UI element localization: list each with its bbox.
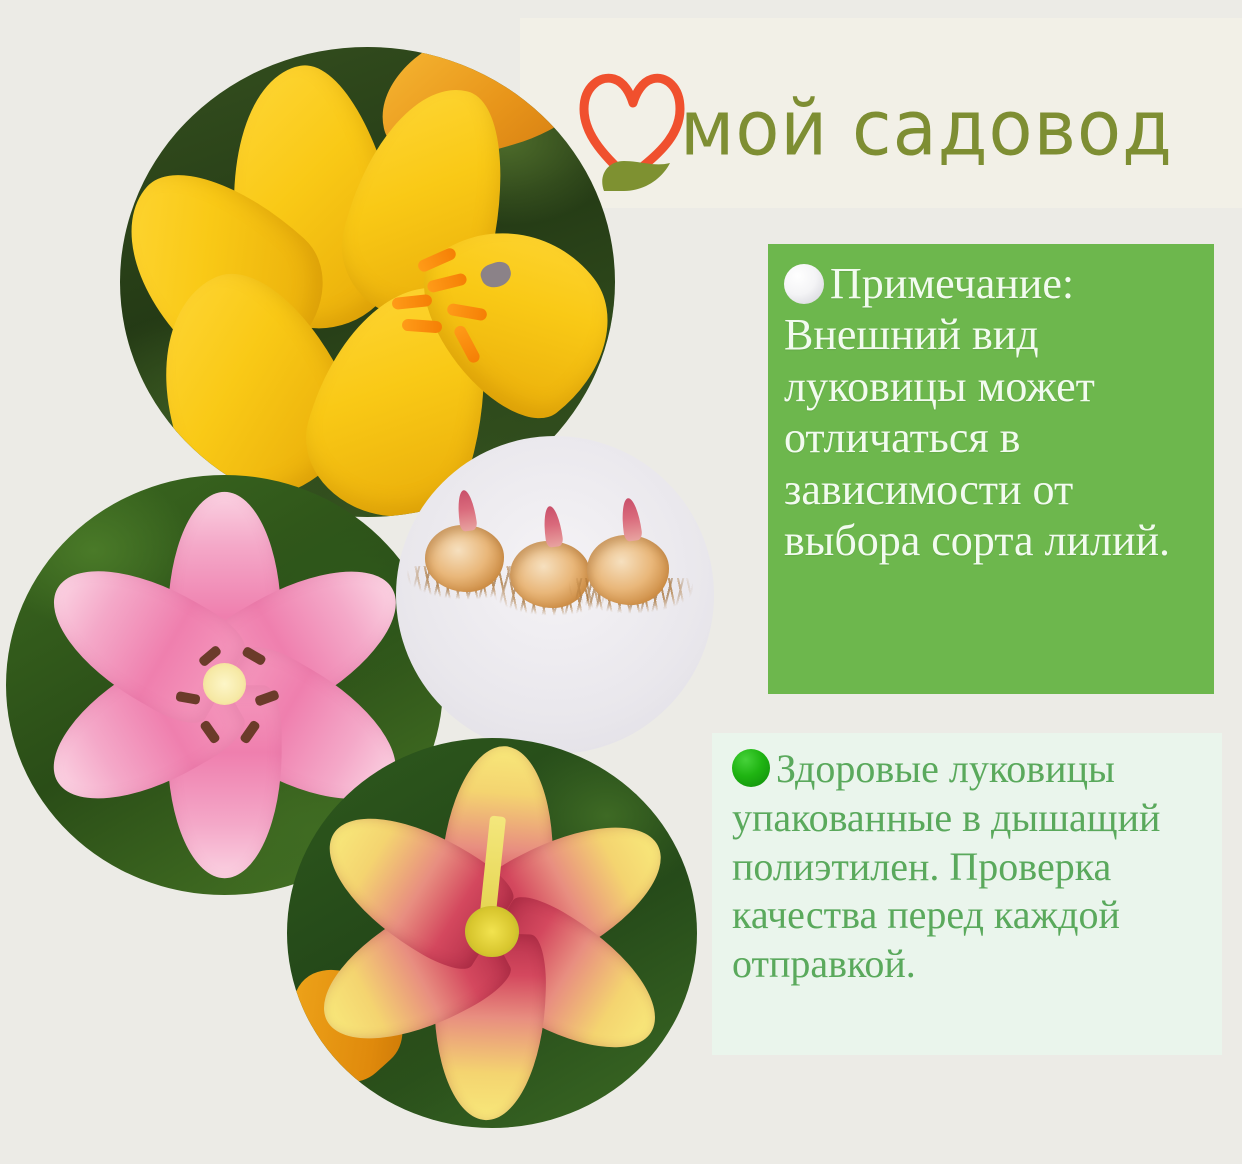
photo-bicolor-lily bbox=[287, 738, 697, 1128]
poster-canvas: мой садовод Примечание: Внешний вид луко… bbox=[0, 0, 1242, 1164]
quality-text: Здоровые луковицы упакованные в дышащий … bbox=[732, 745, 1204, 989]
heart-leaf-icon bbox=[578, 63, 686, 193]
bulb-body bbox=[587, 535, 670, 605]
flower-core bbox=[465, 906, 518, 957]
brand-name: мой садовод bbox=[680, 90, 1173, 166]
quality-full-text: Здоровые луковицы упакованные в дышащий … bbox=[732, 746, 1160, 986]
anther bbox=[402, 318, 442, 333]
note-text: Примечание: Внешний вид луковицы может о… bbox=[784, 258, 1194, 567]
brand-logo[interactable]: мой садовод bbox=[578, 58, 1223, 198]
flower-core bbox=[203, 663, 247, 705]
quality-callout-box: Здоровые луковицы упакованные в дышащий … bbox=[712, 733, 1222, 1055]
white-circle-bullet-icon bbox=[784, 264, 824, 304]
note-full-text: Примечание: Внешний вид луковицы может о… bbox=[784, 259, 1170, 565]
photo-lily-bulbs bbox=[396, 436, 714, 754]
green-circle-bullet-icon bbox=[732, 749, 770, 787]
lily-bulb bbox=[587, 535, 670, 605]
note-callout-box: Примечание: Внешний вид луковицы может о… bbox=[768, 244, 1214, 694]
